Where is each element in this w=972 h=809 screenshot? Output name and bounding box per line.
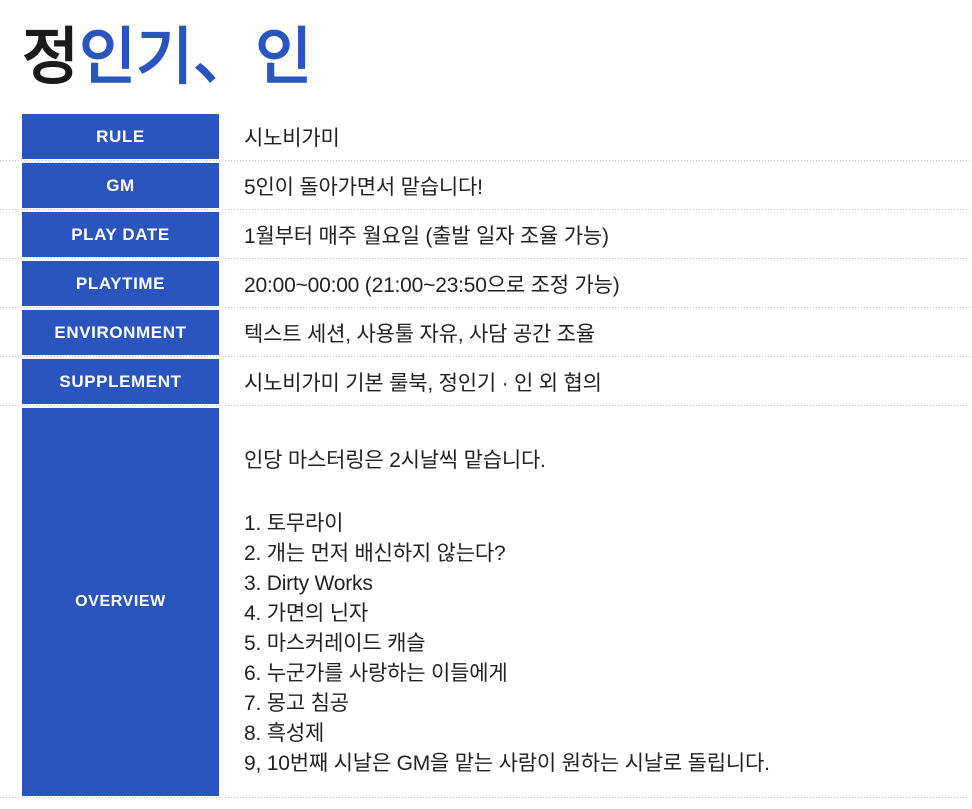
row-label-supplement: SUPPLEMENT [22, 359, 219, 404]
row-value-environment: 텍스트 세션, 사용툴 자유, 사담 공간 조율 [219, 308, 972, 357]
table-row: GM 5인이 돌아가면서 맡습니다! [0, 161, 972, 210]
list-item: 7. 몽고 침공 [244, 689, 770, 719]
table-row: PLAYTIME 20:00~00:00 (21:00~23:50으로 조정 가… [0, 259, 972, 308]
list-item: 6. 누군가를 사랑하는 이들에게 [244, 659, 770, 689]
info-table: RULE 시노비가미 GM 5인이 돌아가면서 맡습니다! PLAY DATE … [0, 112, 972, 798]
overview-intro: 인당 마스터링은 2시날씩 맡습니다. [244, 450, 770, 471]
row-value-playtime: 20:00~00:00 (21:00~23:50으로 조정 가능) [219, 259, 972, 308]
list-item: 3. Dirty Works [244, 569, 770, 599]
row-label-gm: GM [22, 163, 219, 208]
row-value-gm: 5인이 돌아가면서 맡습니다! [219, 161, 972, 210]
row-value-play-date: 1월부터 매주 월요일 (출발 일자 조율 가능) [219, 210, 972, 259]
page-title-dark-segment: 정 [22, 24, 79, 92]
list-item: 8. 흑성제 [244, 719, 770, 749]
row-label-playtime: PLAYTIME [22, 261, 219, 306]
row-label-environment: ENVIRONMENT [22, 310, 219, 355]
row-value-overview: 인당 마스터링은 2시날씩 맡습니다. 1. 토무라이 2. 개는 먼저 배신하… [219, 406, 972, 798]
table-row: ENVIRONMENT 텍스트 세션, 사용툴 자유, 사담 공간 조율 [0, 308, 972, 357]
table-row: SUPPLEMENT 시노비가미 기본 룰북, 정인기 · 인 외 협의 [0, 357, 972, 406]
table-row: PLAY DATE 1월부터 매주 월요일 (출발 일자 조율 가능) [0, 210, 972, 259]
row-value-rule: 시노비가미 [219, 112, 972, 161]
row-label-play-date: PLAY DATE [22, 212, 219, 257]
list-item: 1. 토무라이 [244, 509, 770, 539]
table-row: RULE 시노비가미 [0, 112, 972, 161]
list-item: 5. 마스커레이드 캐슬 [244, 629, 770, 659]
list-item: 9, 10번째 시날은 GM을 맡는 사람이 원하는 시날로 돌립니다. [244, 749, 770, 779]
row-label-rule: RULE [22, 114, 219, 159]
slide-page: 정인기、인 RULE 시노비가미 GM 5인이 돌아가면서 맡습니다! PLAY… [0, 0, 972, 809]
page-title-blue-segment: 인기、인 [79, 24, 312, 92]
table-row-overview: OVERVIEW 인당 마스터링은 2시날씩 맡습니다. 1. 토무라이 2. … [0, 406, 972, 798]
row-label-overview: OVERVIEW [22, 408, 219, 796]
row-value-supplement: 시노비가미 기본 룰북, 정인기 · 인 외 협의 [219, 357, 972, 406]
list-item: 4. 가면의 닌자 [244, 599, 770, 629]
overview-list: 1. 토무라이 2. 개는 먼저 배신하지 않는다? 3. Dirty Work… [244, 509, 770, 779]
page-title-text: 정인기、인 [22, 27, 312, 89]
overview-body: 인당 마스터링은 2시날씩 맡습니다. 1. 토무라이 2. 개는 먼저 배신하… [244, 450, 770, 779]
page-title: 정인기、인 [22, 10, 312, 106]
list-item: 2. 개는 먼저 배신하지 않는다? [244, 539, 770, 569]
